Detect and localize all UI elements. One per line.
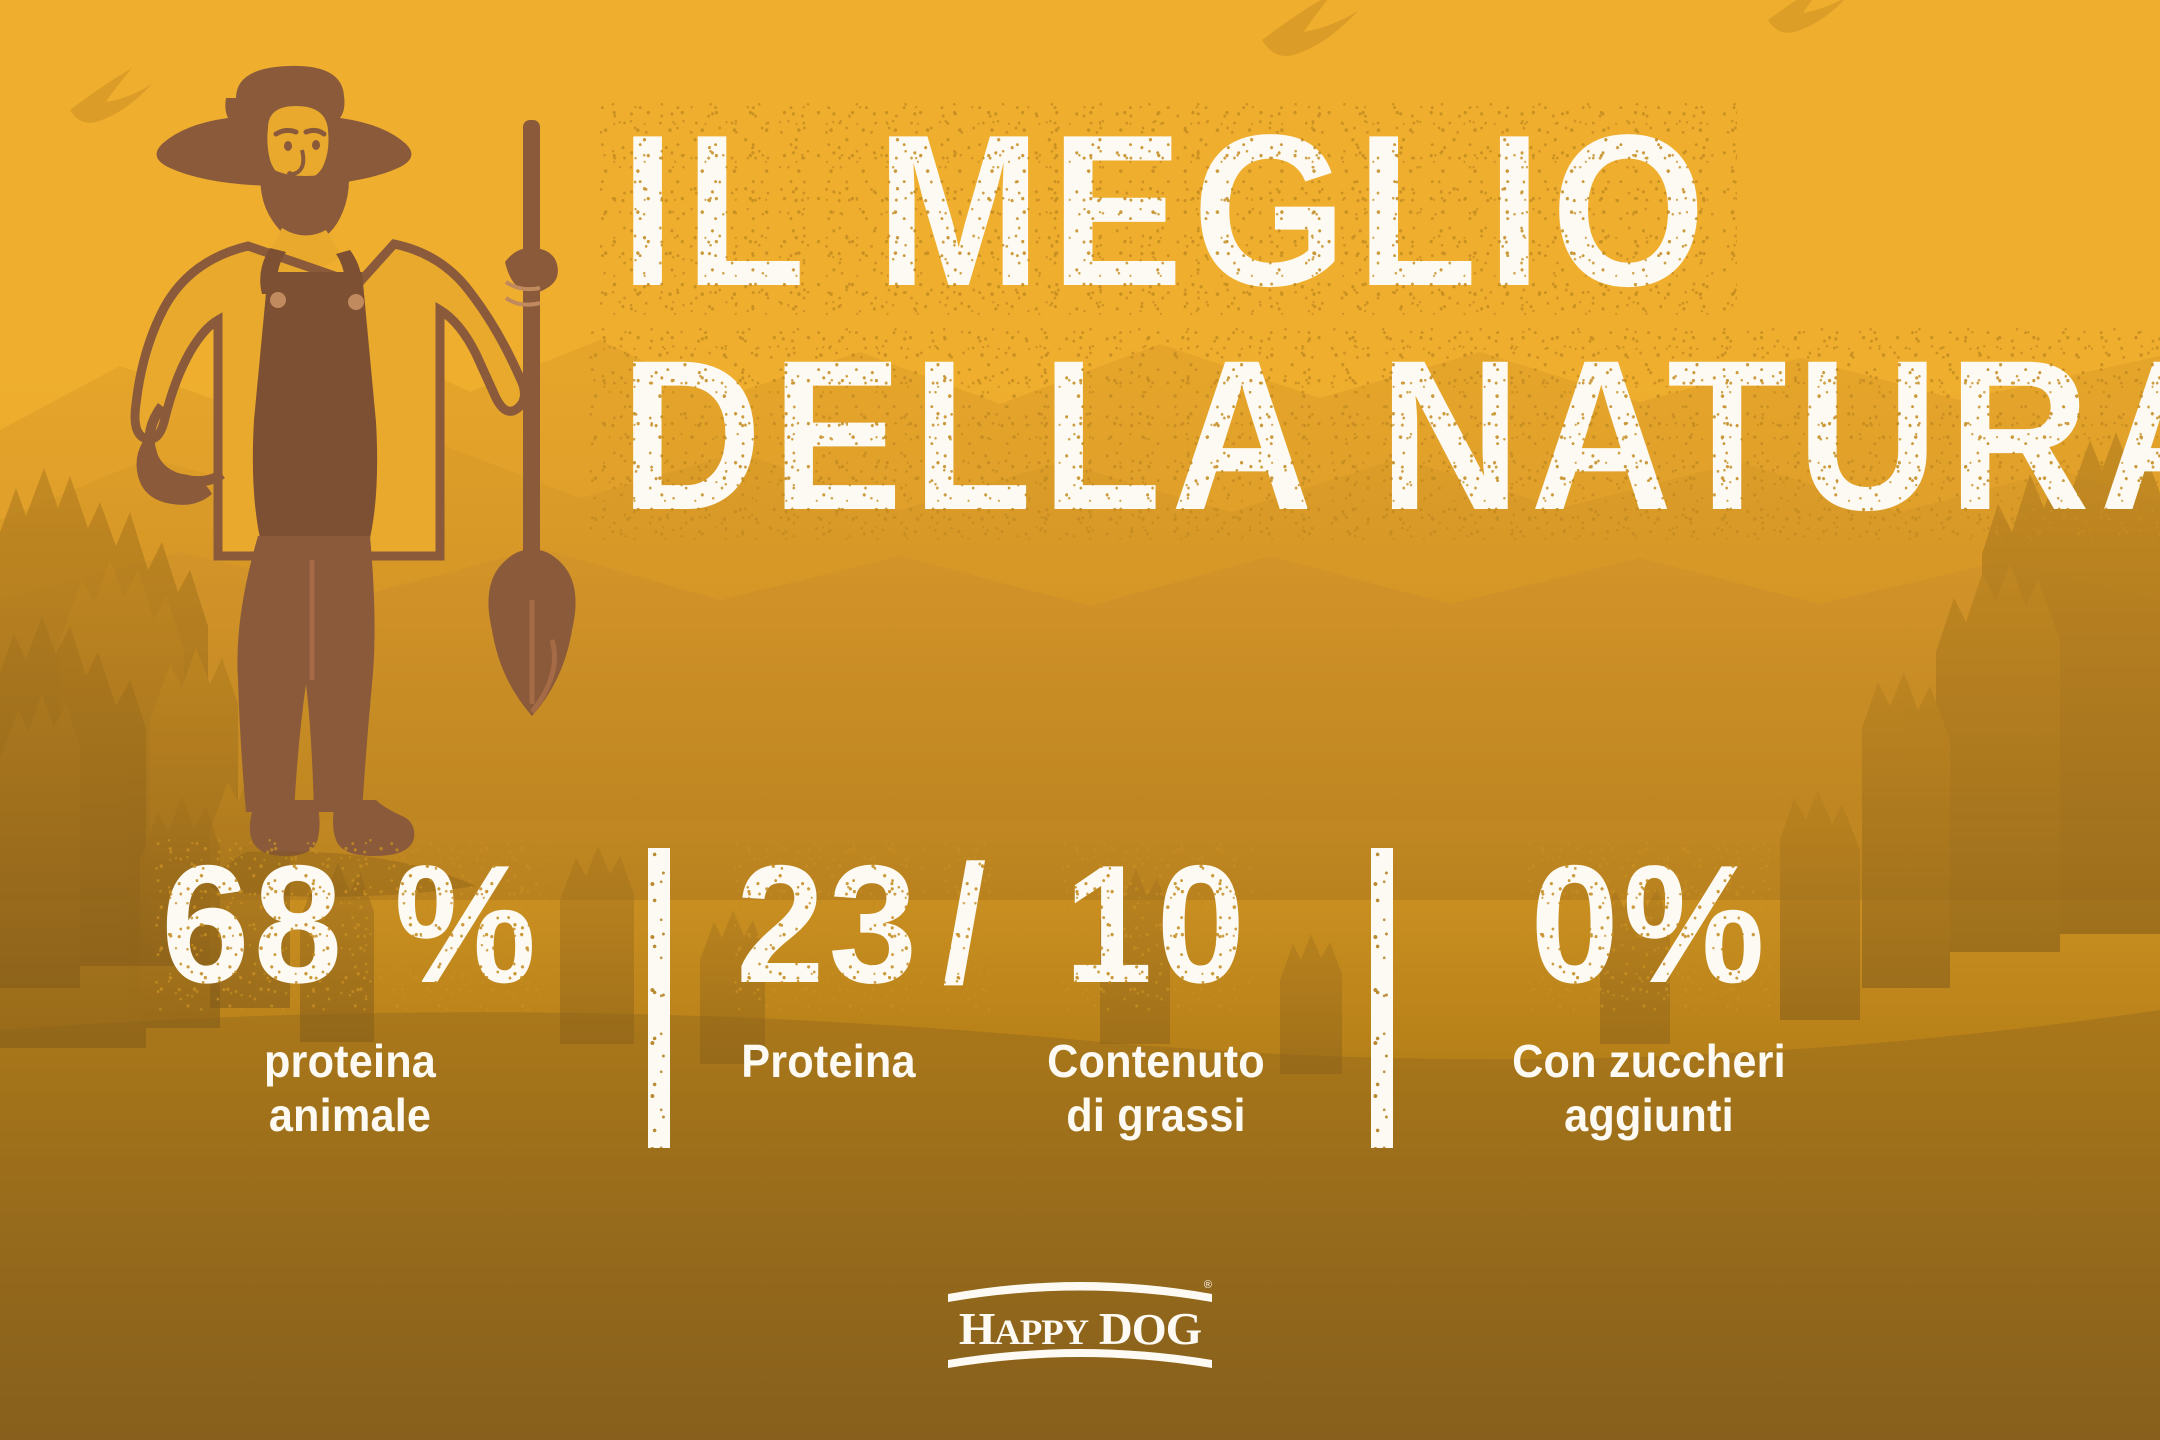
stat-added-sugar: 0% Con zuccheri aggiunti <box>1499 840 1799 1143</box>
bird-icon <box>1262 0 1358 56</box>
logo-trademark: ® <box>1204 1279 1212 1291</box>
stat-value: 68 % <box>161 840 540 1008</box>
headline-line-1: IL MEGLIO <box>620 105 1715 317</box>
stat-label-line-2: animale <box>153 1088 548 1142</box>
stat-protein-animal: 68 % proteina animale <box>140 840 560 1143</box>
stat-value: / <box>942 840 990 1008</box>
stat-value: 10 <box>1063 840 1248 1008</box>
stat-label-line-2: aggiunti <box>1508 1088 1790 1142</box>
bird-icon <box>70 68 152 123</box>
stats-row: 68 % proteina animale 23 Proteina / 10 C… <box>0 840 2160 1240</box>
stat-protein: 23 Proteina <box>726 840 931 1088</box>
stat-value: 23 <box>736 840 921 1008</box>
stat-label-line-1: Con zuccheri <box>1508 1034 1790 1088</box>
headline: IL MEGLIO DELLA NATURA <box>620 105 2120 540</box>
stat-label: Con zuccheri aggiunti <box>1508 1034 1790 1143</box>
headline-line-2: DELLA NATURA <box>620 331 2160 541</box>
stat-label-line-1: Proteina <box>732 1034 925 1088</box>
logo-arc-top <box>948 1282 1212 1302</box>
stat-separator-slash: / <box>931 840 1001 1008</box>
stat-label: Proteina <box>732 1034 925 1088</box>
stat-label-line-2: di grassi <box>1039 1088 1274 1142</box>
logo-wordmark: HAPPY DOG <box>959 1304 1201 1354</box>
stat-label-line-1: Contenuto <box>1039 1034 1274 1088</box>
stat-divider-2 <box>1371 848 1393 1148</box>
stat-label: proteina animale <box>153 1034 548 1143</box>
stat-fat-content: 10 Contenuto di grassi <box>1031 840 1281 1143</box>
stat-label-line-1: proteina <box>153 1034 548 1088</box>
stat-divider-1 <box>648 848 670 1148</box>
stat-label: Contenuto di grassi <box>1039 1034 1274 1143</box>
stat-value: 0% <box>1530 840 1768 1008</box>
happy-dog-logo: HAPPY DOG ® <box>940 1268 1220 1380</box>
poster-canvas: IL MEGLIO DELLA NATURA 68 % proteina ani… <box>0 0 2160 1440</box>
bird-icon <box>1768 0 1848 33</box>
